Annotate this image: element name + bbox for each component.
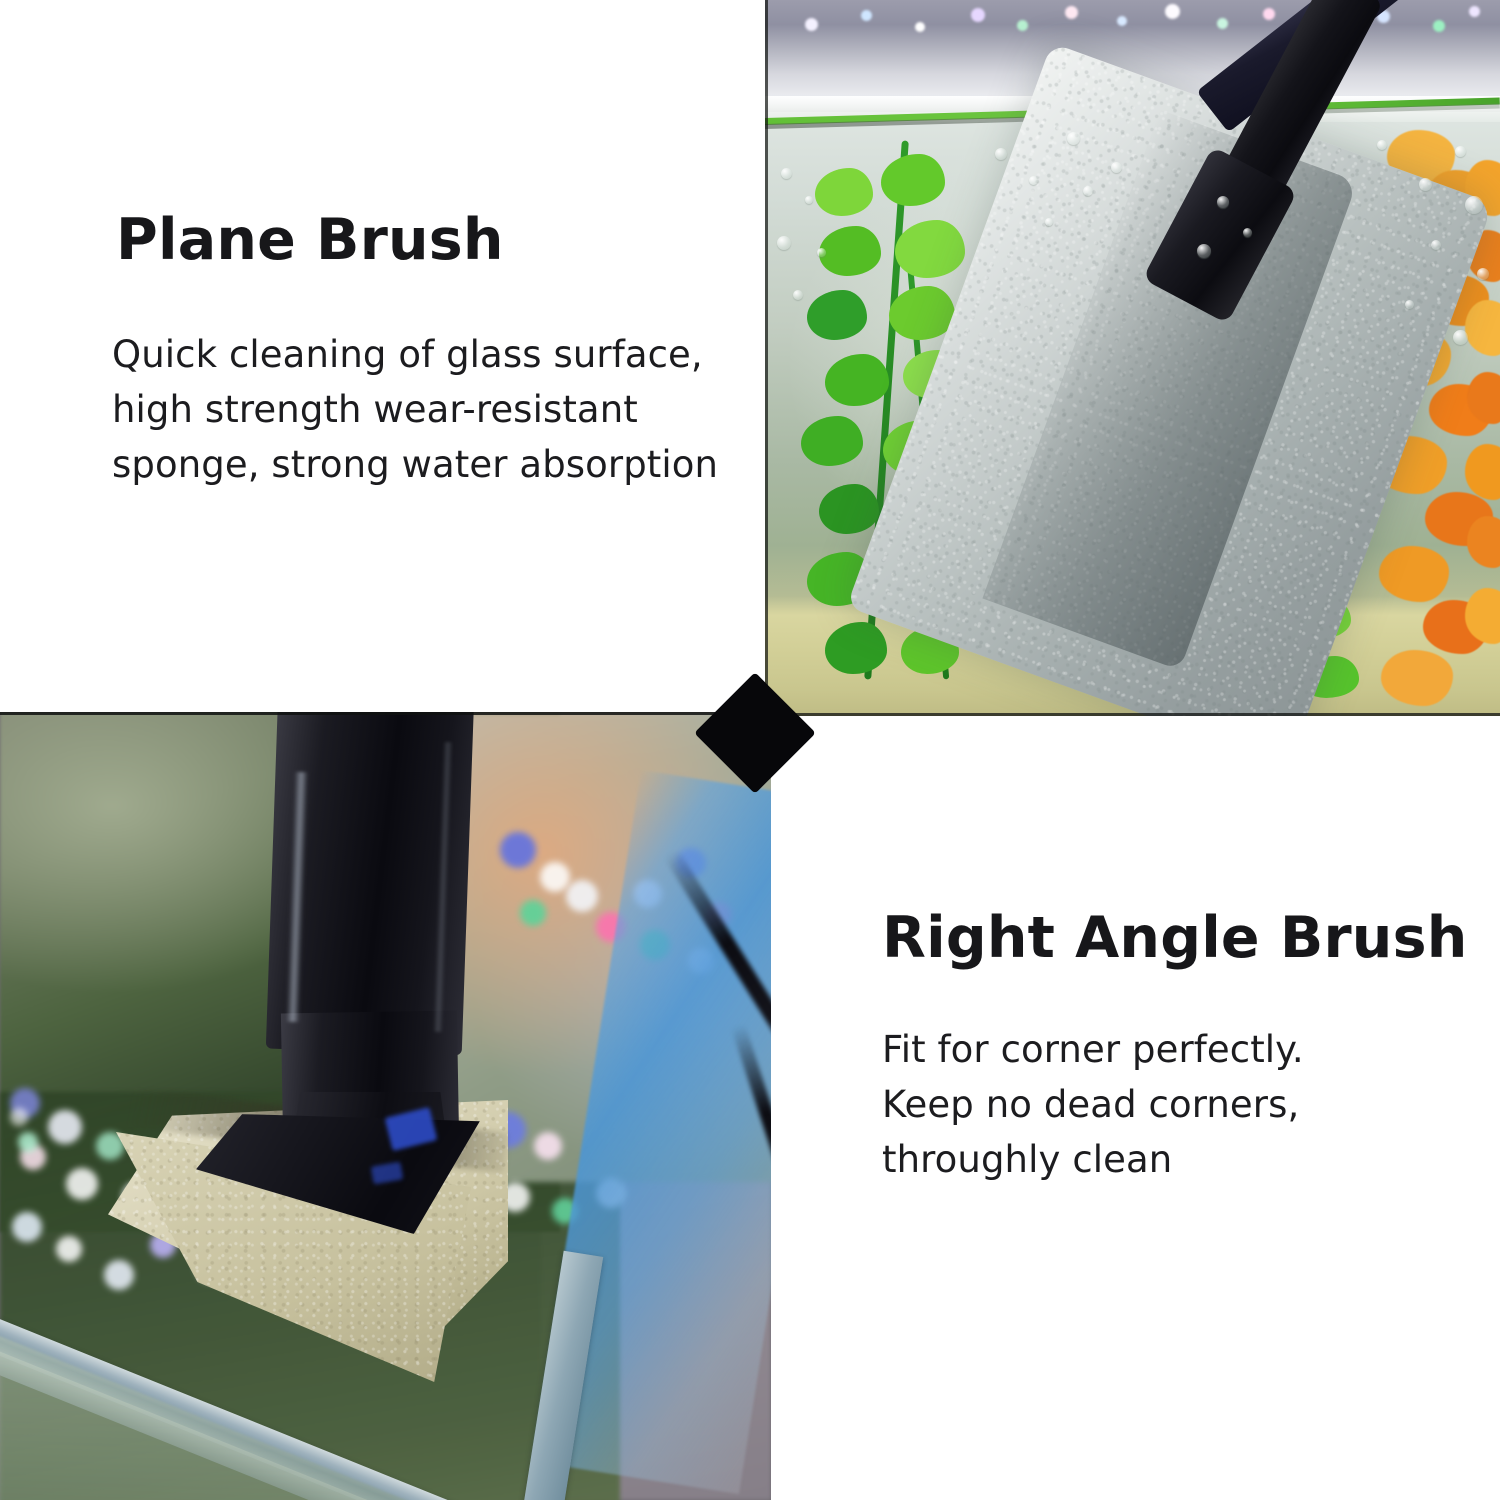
right-angle-brush-description: Fit for corner perfectly. Keep no dead c…	[882, 1022, 1467, 1187]
right-angle-brush-desc-line-2: Keep no dead corners,	[882, 1077, 1467, 1132]
right-angle-brush-text-block: Right Angle Brush Fit for corner perfect…	[882, 910, 1467, 1187]
photo-edge-left	[765, 0, 768, 716]
right-angle-brush-desc-line-1: Fit for corner perfectly.	[882, 1022, 1467, 1077]
plane-brush-text-block: Plane Brush Quick cleaning of glass surf…	[116, 212, 718, 492]
right-angle-brush-desc-line-3: throughly clean	[882, 1132, 1467, 1187]
photo-edge-top	[0, 712, 771, 715]
plane-brush-desc-line-2: high strength wear-resistant	[112, 382, 718, 437]
photo-right-angle-brush	[0, 712, 771, 1500]
plane-brush-description: Quick cleaning of glass surface, high st…	[112, 327, 718, 492]
right-angle-brush-title: Right Angle Brush	[882, 910, 1467, 967]
plane-brush-desc-line-1: Quick cleaning of glass surface,	[112, 327, 718, 382]
plane-brush-title: Plane Brush	[116, 212, 718, 269]
photo-edge-bottom	[765, 713, 1500, 716]
plane-brush-desc-line-3: sponge, strong water absorption	[112, 437, 718, 492]
photo-plane-brush	[765, 0, 1500, 716]
water-droplets	[765, 0, 1500, 716]
